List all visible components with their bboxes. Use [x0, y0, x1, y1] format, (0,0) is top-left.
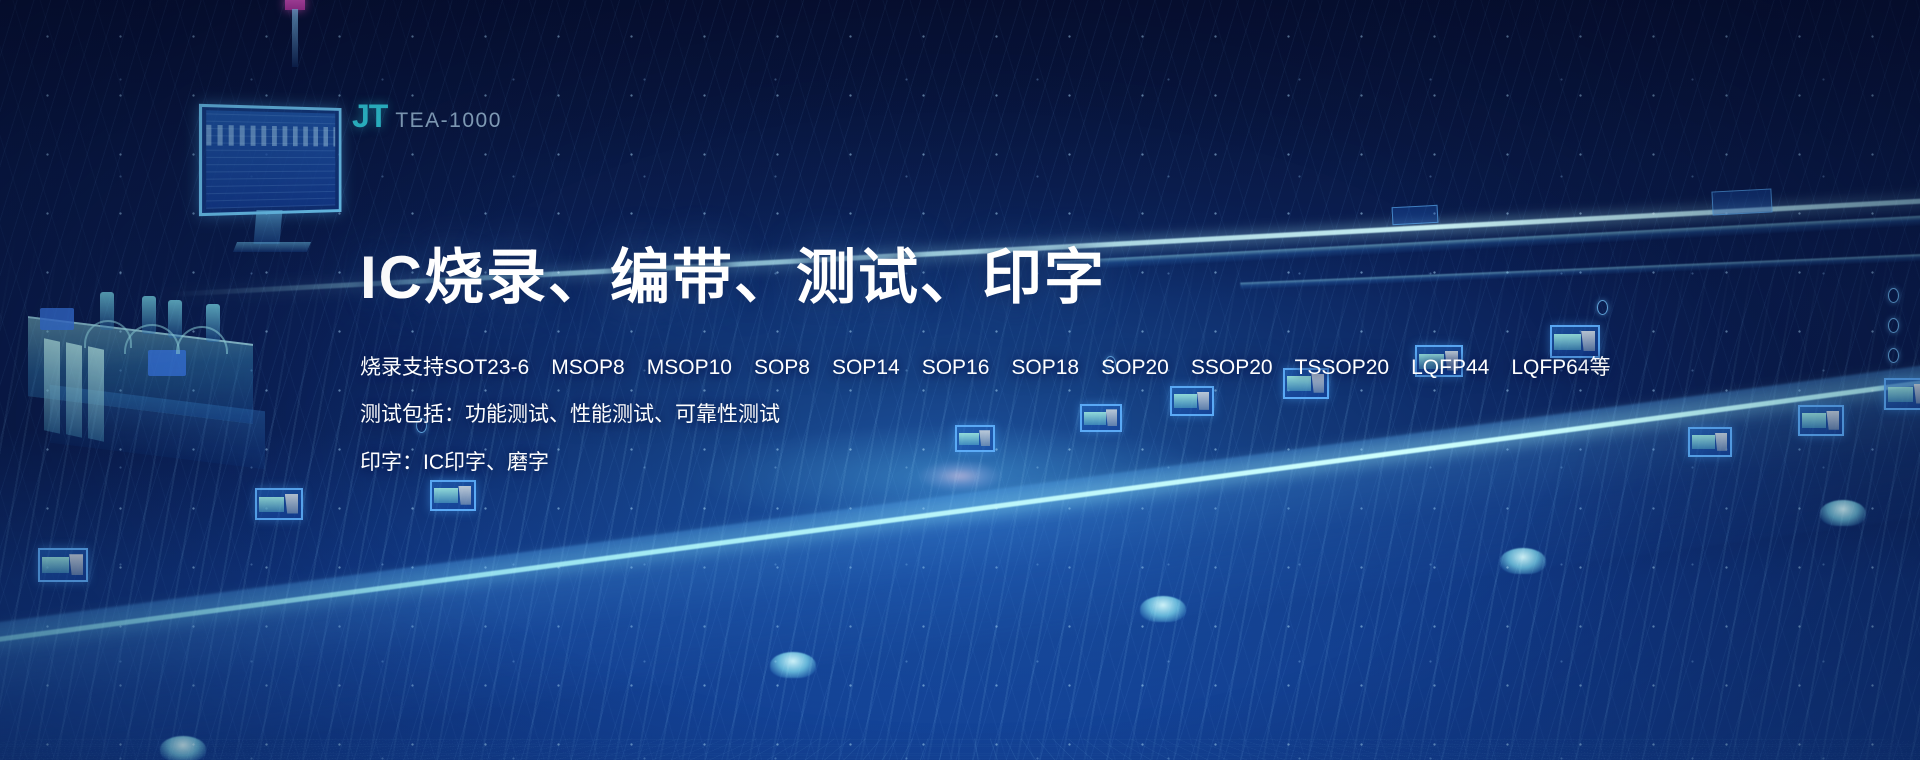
- background-vignette: [0, 0, 1920, 760]
- hero-banner: JT TEA-1000 IC烧录、编带、测试、印字 烧录支持SOT23-6 MS…: [0, 0, 1920, 760]
